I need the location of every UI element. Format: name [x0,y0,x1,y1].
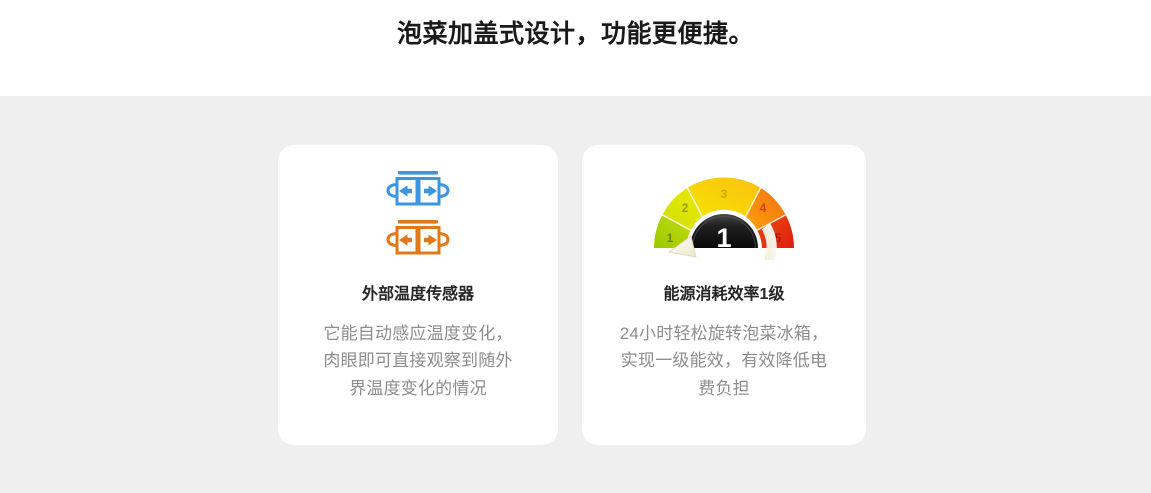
energy-efficiency-gauge-icon: 1 2 3 4 5 1 [649,168,799,260]
sensor-unit-orange-icon [385,219,451,259]
gauge-hub-value: 1 [716,223,731,253]
card-heading: 能源消耗效率1级 [664,285,785,306]
card-icon-slot: 1 2 3 4 5 1 [649,149,799,279]
page-title: 泡菜加盖式设计，功能更便捷。 [397,19,754,49]
card-body-text: 24小时轻松旋转泡菜冰箱，实现一级能效，有效降低电费负担 [593,320,855,403]
feature-cards-area: 外部温度传感器 它能自动感应温度变化，肉眼即可直接观察到随外界温度变化的情况 [0,96,1151,493]
card-body-text: 它能自动感应温度变化，肉眼即可直接观察到随外界温度变化的情况 [294,320,542,403]
product-feature-page: 泡菜加盖式设计，功能更便捷。 [0,0,1151,493]
feature-card-temperature-sensor[interactable]: 外部温度传感器 它能自动感应温度变化，肉眼即可直接观察到随外界温度变化的情况 [278,145,558,445]
card-icon-slot [385,149,451,279]
card-heading: 外部温度传感器 [362,285,474,306]
external-temperature-sensor-icon [385,170,451,259]
sensor-unit-blue-icon [385,170,451,210]
header-band: 泡菜加盖式设计，功能更便捷。 [0,0,1151,96]
gauge-label-3: 3 [721,187,728,201]
gauge-label-2: 2 [682,201,689,215]
gauge-label-4: 4 [760,201,767,215]
feature-card-energy-efficiency[interactable]: 1 2 3 4 5 1 [582,145,866,445]
gauge-label-1: 1 [667,231,674,245]
